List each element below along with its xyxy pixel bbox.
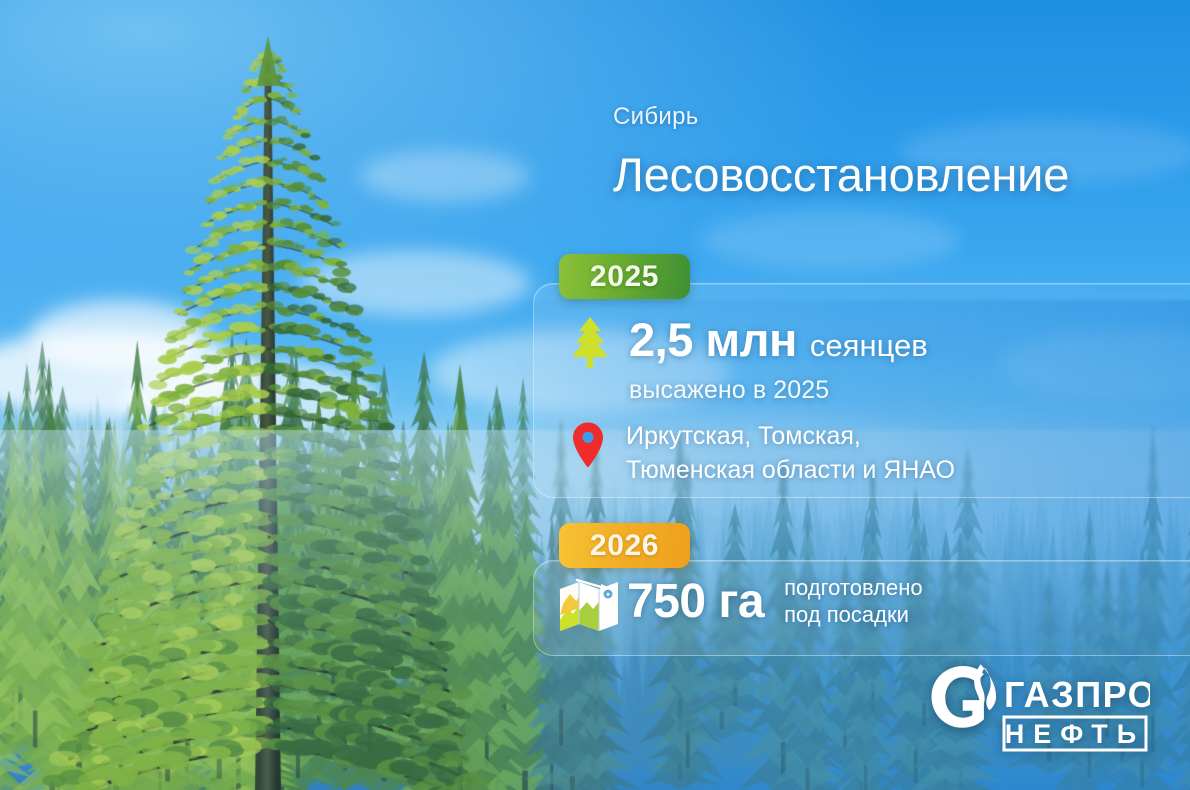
region-eyebrow: Сибирь [613, 103, 1069, 131]
folded-map-icon [557, 577, 621, 634]
area-stat-row: 750 га подготовлено под посадки [557, 575, 923, 634]
area-note-line-1: подготовлено [784, 575, 923, 600]
area-note-line-2: под посадки [784, 602, 909, 627]
neft-wordmark: НЕФТЬ [1005, 719, 1145, 749]
regions-line-2: Тюменская области и ЯНАО [626, 453, 955, 487]
year-badge-2025: 2025 [559, 254, 690, 299]
gazprom-neft-logo: ГАЗПРОМ НЕФТЬ [925, 660, 1150, 760]
gazprom-wordmark: ГАЗПРОМ [1004, 674, 1150, 715]
location-pin-icon [571, 421, 605, 469]
seedlings-unit: сеянцев [810, 328, 928, 364]
regions-line-1: Иркутская, Томская, [626, 419, 955, 453]
page-title: Лесовосстановление [613, 150, 1069, 199]
area-value: 750 га [627, 578, 764, 626]
evergreen-tree-icon [570, 316, 610, 369]
year-badge-2026: 2026 [559, 523, 690, 568]
gazprom-g-flame-mark [932, 664, 997, 728]
seedlings-stat-row: 2,5 млн сеянцев высажено в 2025 [570, 316, 928, 405]
seedlings-subtitle: высажено в 2025 [629, 376, 928, 405]
page-heading-group: Сибирь Лесовосстановление [613, 103, 1069, 199]
seedlings-value: 2,5 млн [629, 316, 797, 363]
regions-stat-row: Иркутская, Томская, Тюменская области и … [571, 419, 955, 487]
infographic-poster: Сибирь Лесовосстановление 2025 2,5 млн с… [0, 0, 1190, 790]
